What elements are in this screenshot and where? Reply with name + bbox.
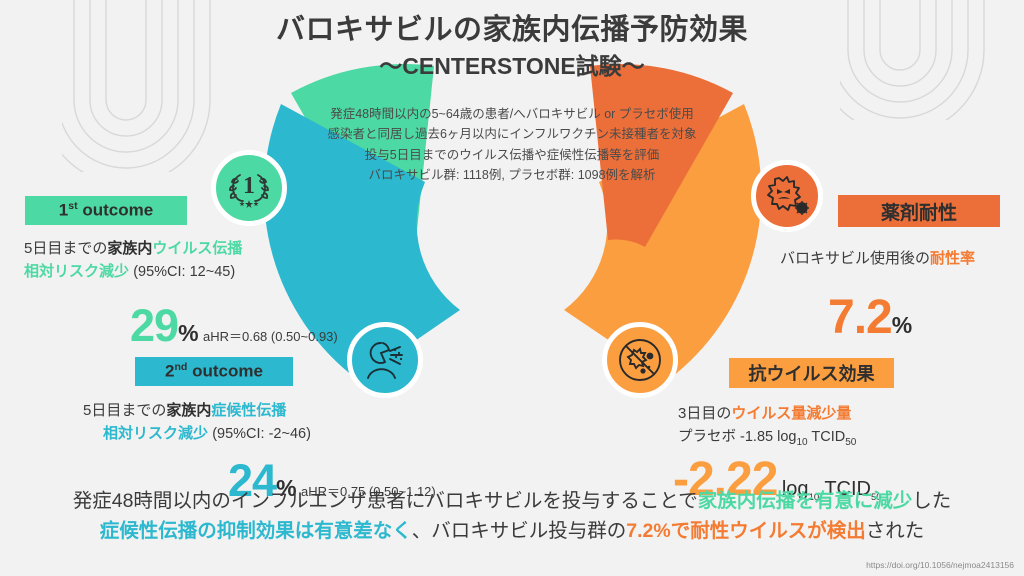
pill-first-outcome-label: 1st outcome bbox=[59, 200, 153, 221]
virus-blocked-icon bbox=[602, 322, 678, 398]
pill-second-outcome-label: 2nd outcome bbox=[165, 361, 263, 382]
laurel-medal-icon: 1 bbox=[211, 150, 287, 226]
conclusion-line-1: 発症48時間以内のインフルエンザ患者にバロキサビルを投与することで家族内伝播を有… bbox=[0, 486, 1024, 516]
page-title: バロキサビルの家族内伝播予防効果 bbox=[0, 14, 1024, 47]
antiviral-effect-line-1: 3日目のウイルス量減少量 bbox=[678, 403, 856, 426]
pill-drug-resistance: 薬剤耐性 bbox=[838, 195, 1000, 227]
title-block: バロキサビルの家族内伝播予防効果 〜CENTERSTONE試験〜 bbox=[0, 14, 1024, 80]
drug-resistance-number: 7.2 bbox=[828, 291, 892, 344]
conclusion-line-2: 症候性伝播の抑制効果は有意差なく、バロキサビル投与群の7.2%で耐性ウイルスが検… bbox=[0, 516, 1024, 546]
drug-resistance-value: 7.2% bbox=[828, 290, 912, 345]
first-outcome-line-2: 相対リスク減少 (95%CI: 12~45) bbox=[24, 261, 242, 284]
first-outcome-line-1: 5日目までの家族内ウイルス伝播 bbox=[24, 238, 242, 261]
drug-resistance-line-1: バロキサビル使用後の耐性率 bbox=[780, 248, 975, 271]
first-outcome-unit: % bbox=[178, 320, 198, 346]
svg-text:1: 1 bbox=[243, 173, 255, 199]
first-outcome-number: 29 bbox=[130, 300, 178, 351]
pill-second-outcome: 2nd outcome bbox=[135, 357, 293, 386]
second-outcome-line-1: 5日目までの家族内症候性伝播 bbox=[83, 400, 311, 423]
doi-link[interactable]: https://doi.org/10.1056/nejmoa2413156 bbox=[866, 560, 1014, 570]
second-outcome-line-2: 相対リスク減少 (95%CI: -2~46) bbox=[103, 423, 311, 446]
pill-antiviral-effect-label: 抗ウイルス効果 bbox=[749, 360, 875, 386]
antiviral-effect-line-2: プラセボ -1.85 log10 TCID50 bbox=[678, 426, 856, 450]
conclusion-block: 発症48時間以内のインフルエンザ患者にバロキサビルを投与することで家族内伝播を有… bbox=[0, 486, 1024, 546]
pill-first-outcome: 1st outcome bbox=[25, 196, 187, 225]
second-outcome-text: 5日目までの家族内症候性伝播 相対リスク減少 (95%CI: -2~46) bbox=[83, 400, 311, 445]
drug-resistance-text: バロキサビル使用後の耐性率 bbox=[780, 248, 975, 271]
drug-resistance-unit: % bbox=[892, 312, 912, 338]
first-outcome-value: 29% aHR＝0.68 (0.50~0.93) bbox=[130, 300, 338, 352]
study-description-line-3: 投与5日目までのウイルス伝播や症候性伝播等を評価 bbox=[292, 145, 732, 165]
antiviral-effect-text: 3日目のウイルス量減少量 プラセボ -1.85 log10 TCID50 bbox=[678, 403, 856, 450]
person-sneezing-icon bbox=[347, 322, 423, 398]
pill-antiviral-effect: 抗ウイルス効果 bbox=[729, 358, 894, 388]
page-subtitle: 〜CENTERSTONE試験〜 bbox=[0, 53, 1024, 79]
study-description-line-1: 発症48時間以内の5~64歳の患者/へバロキサビル or プラセボ使用 bbox=[292, 104, 732, 124]
first-outcome-text: 5日目までの家族内ウイルス伝播 相対リスク減少 (95%CI: 12~45) bbox=[24, 238, 242, 283]
study-description: 発症48時間以内の5~64歳の患者/へバロキサビル or プラセボ使用 感染者と… bbox=[292, 104, 732, 185]
virus-resistant-icon bbox=[751, 160, 823, 232]
pill-drug-resistance-label: 薬剤耐性 bbox=[881, 198, 957, 225]
study-description-line-4: バロキサビル群: 1118例, プラセボ群: 1098例を解析 bbox=[292, 165, 732, 185]
first-outcome-ahr: aHR＝0.68 (0.50~0.93) bbox=[203, 329, 338, 344]
study-description-line-2: 感染者と同居し過去6ヶ月以内にインフルワクチン未接種者を対象 bbox=[292, 124, 732, 144]
infographic-canvas: バロキサビルの家族内伝播予防効果 〜CENTERSTONE試験〜 発症48時間以… bbox=[0, 0, 1024, 576]
